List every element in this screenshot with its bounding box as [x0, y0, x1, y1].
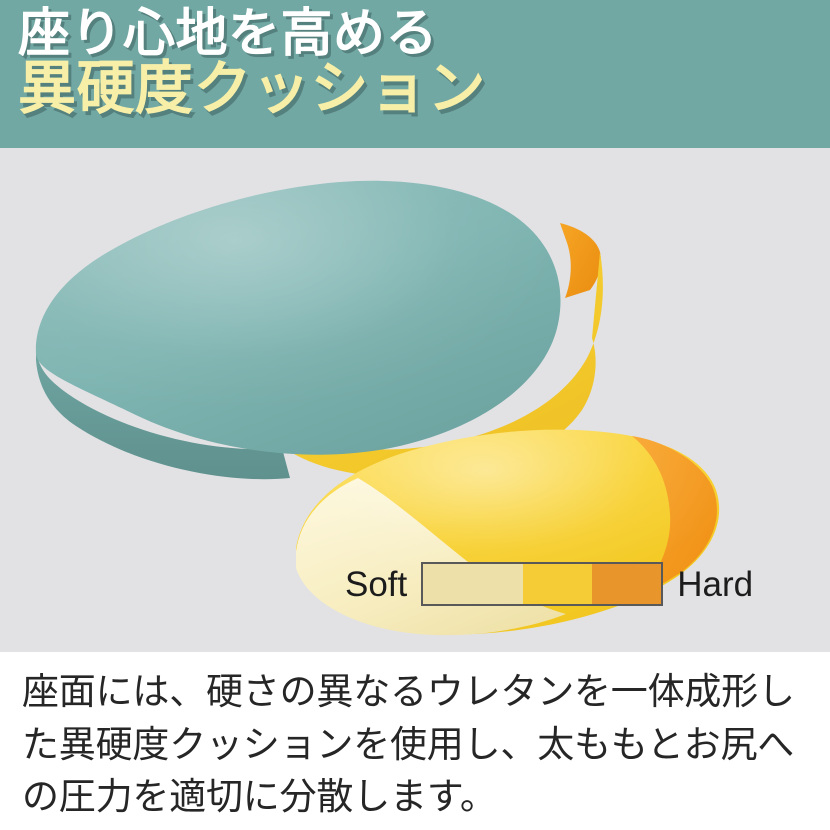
legend-segment-medium — [523, 564, 592, 604]
header-banner: 座り心地を高める 異硬度クッション — [0, 0, 830, 148]
legend-soft-label: Soft — [345, 567, 407, 602]
legend-segment-hard — [592, 564, 661, 604]
seat-top-surface-sheen — [36, 181, 561, 455]
description-text: 座面には、硬さの異なるウレタンを一体成形した異硬度クッションを使用し、太ももとお… — [22, 666, 808, 824]
hardness-scale-legend: Soft Hard — [345, 562, 753, 606]
legend-hard-label: Hard — [677, 567, 753, 602]
seat-top-underside-orange-edge — [560, 223, 601, 298]
product-feature-infographic: 座り心地を高める 異硬度クッション — [0, 0, 830, 830]
header-title-line-1: 座り心地を高める — [18, 8, 830, 61]
legend-segment-soft — [423, 564, 523, 604]
description-section: 座面には、硬さの異なるウレタンを一体成形した異硬度クッションを使用し、太ももとお… — [0, 652, 830, 830]
hardness-gradient-bar — [421, 562, 663, 606]
header-title-line-2: 異硬度クッション — [18, 59, 830, 118]
cushion-illustration-panel: Soft Hard — [0, 148, 830, 652]
